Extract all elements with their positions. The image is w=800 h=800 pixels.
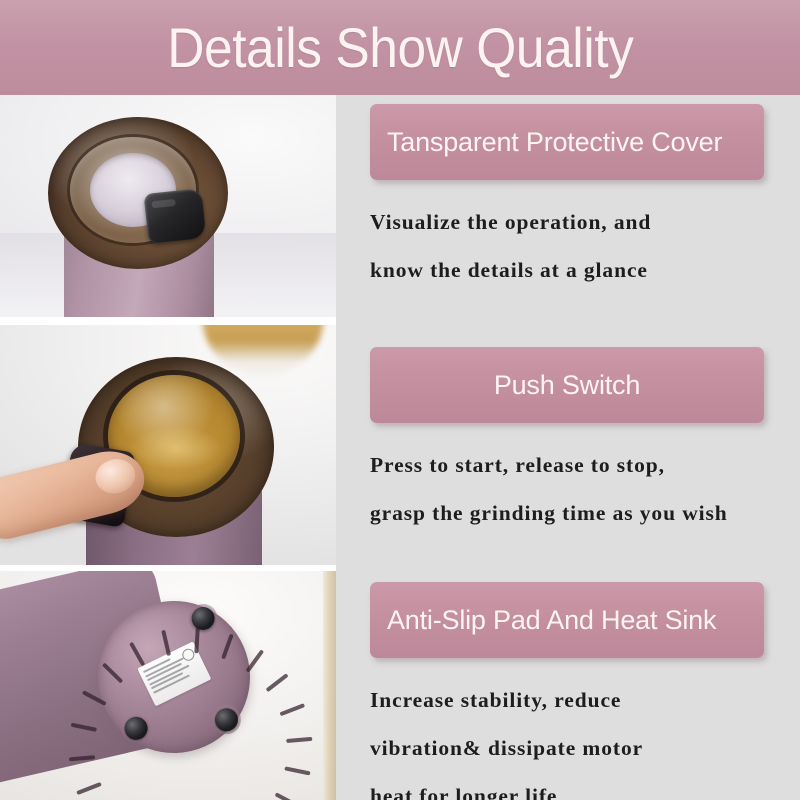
heat-sink-vent [161, 630, 171, 656]
photo-column [0, 95, 336, 800]
spec-label [137, 641, 211, 706]
heat-sink-vent [102, 663, 123, 684]
feature-title: Push Switch [494, 370, 640, 401]
description-line: know the details at a glance [370, 246, 766, 294]
heat-sink-vent [194, 627, 200, 653]
fingernail [92, 455, 139, 498]
description-line: grasp the grinding time as you wish [370, 489, 766, 537]
header-banner: Details Show Quality [0, 0, 800, 95]
transparent-cover [48, 117, 228, 269]
feature-badge: Anti-Slip Pad And Heat Sink [370, 582, 764, 658]
feature-description: Press to start, release to stop, grasp t… [370, 441, 766, 537]
feature-section-push-switch: Push Switch Press to start, release to s… [370, 347, 766, 537]
heat-sink-vent [129, 642, 145, 667]
description-line: heat for longer life [370, 772, 766, 800]
description-line: Visualize the operation, and [370, 198, 766, 246]
description-line: vibration& dissipate motor [370, 724, 766, 772]
page-title: Details Show Quality [167, 15, 633, 80]
feature-section-anti-slip-pad: Anti-Slip Pad And Heat Sink Increase sta… [370, 582, 766, 800]
feature-title: Anti-Slip Pad And Heat Sink [387, 605, 716, 636]
push-switch-button [144, 188, 207, 244]
feature-description: Visualize the operation, and know the de… [370, 198, 766, 294]
photo-grinder-base-vents-and-feet [0, 571, 336, 800]
photo-grinder-top-view-clear-lid [0, 95, 336, 317]
text-column: Tansparent Protective Cover Visualize th… [336, 95, 800, 800]
description-line: Increase stability, reduce [370, 676, 766, 724]
heat-sink-vent [221, 634, 234, 660]
feature-badge: Push Switch [370, 347, 764, 423]
feature-description: Increase stability, reduce vibration& di… [370, 676, 766, 800]
feature-section-transparent-cover: Tansparent Protective Cover Visualize th… [370, 104, 766, 294]
photo-finger-pressing-push-switch [0, 325, 336, 565]
description-line: Press to start, release to stop, [370, 441, 766, 489]
photo-edge-strip [323, 571, 336, 800]
infographic-page: Details Show Quality [0, 0, 800, 800]
feature-title: Tansparent Protective Cover [387, 127, 722, 158]
feature-badge: Tansparent Protective Cover [370, 104, 764, 180]
